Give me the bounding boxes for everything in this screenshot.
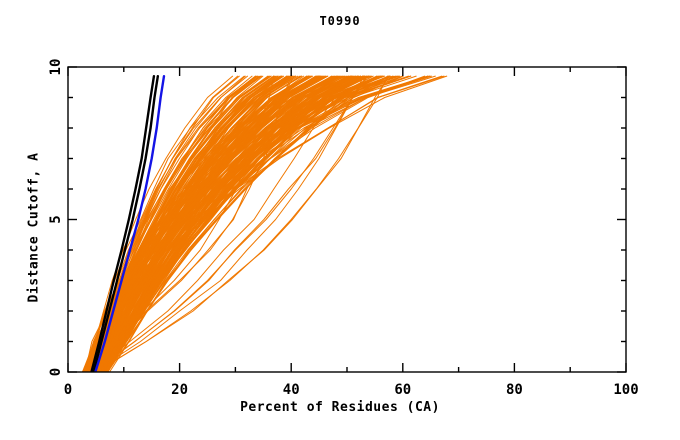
plot-canvas: 0204060801000510	[0, 0, 680, 440]
x-tick-label: 80	[506, 382, 523, 398]
y-tick-label: 0	[48, 368, 64, 376]
y-tick-label: 5	[48, 215, 64, 223]
chart-root: T0990 0204060801000510 Distance Cutoff, …	[0, 0, 680, 440]
data-curves-group	[83, 76, 447, 372]
x-axis-label: Percent of Residues (CA)	[0, 400, 680, 415]
x-tick-label: 60	[394, 382, 411, 398]
y-axis-label: Distance Cutoff, A	[27, 108, 42, 348]
x-tick-label: 20	[171, 382, 188, 398]
x-tick-label: 0	[64, 382, 72, 398]
x-tick-label: 100	[613, 382, 638, 398]
y-tick-label: 10	[48, 59, 64, 76]
x-tick-label: 40	[283, 382, 300, 398]
